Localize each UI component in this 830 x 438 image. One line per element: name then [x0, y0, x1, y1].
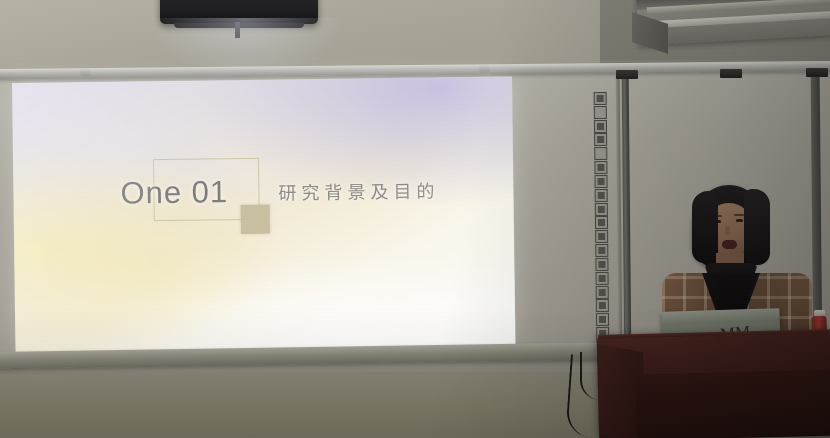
whiteboard-clip: [616, 70, 638, 79]
slide-accent-square: [241, 205, 270, 234]
icon-button-12[interactable]: [595, 244, 608, 257]
icon-button-7[interactable]: [594, 175, 607, 188]
frame-screw: [479, 65, 490, 72]
slide-section-title: 研究背景及目的: [278, 177, 439, 205]
projector-mount: [235, 22, 240, 38]
whiteboard-control-strip[interactable]: [591, 92, 612, 354]
icon-button-1[interactable]: [593, 92, 606, 105]
icon-button-2[interactable]: [593, 106, 606, 119]
presenter-nose: [725, 226, 730, 235]
presenter-eyebrow: [734, 214, 744, 216]
presenter-eye: [736, 219, 743, 222]
projected-slide: One 01 研究背景及目的: [12, 76, 516, 355]
icon-button-10[interactable]: [594, 216, 607, 229]
icon-button-9[interactable]: [594, 203, 607, 216]
icon-button-13[interactable]: [595, 258, 608, 271]
classroom-scene: One 01 研究背景及目的: [0, 0, 830, 438]
icon-button-3[interactable]: [593, 120, 606, 133]
icon-button-11[interactable]: [595, 230, 608, 243]
whiteboard-clip: [720, 69, 742, 78]
icon-button-6[interactable]: [594, 161, 607, 174]
frame-screw: [80, 69, 91, 76]
slide-section-number: One 01: [120, 174, 228, 211]
presenter-mouth: [722, 240, 737, 249]
icon-button-8[interactable]: [594, 189, 607, 202]
icon-button-15[interactable]: [595, 286, 608, 299]
icon-button-16[interactable]: [595, 299, 608, 312]
ac-slat: [648, 11, 830, 29]
icon-button-4[interactable]: [594, 133, 607, 146]
presenter-hair-left: [692, 191, 718, 263]
icon-button-5[interactable]: [594, 147, 607, 160]
projector-icon: [160, 0, 318, 24]
icon-button-14[interactable]: [595, 272, 608, 285]
podium-front-panel: [635, 370, 830, 438]
icon-button-17[interactable]: [595, 313, 608, 326]
laptop-sheen: [661, 308, 779, 324]
whiteboard-clip: [806, 68, 828, 77]
presenter-hair-right: [744, 189, 770, 265]
